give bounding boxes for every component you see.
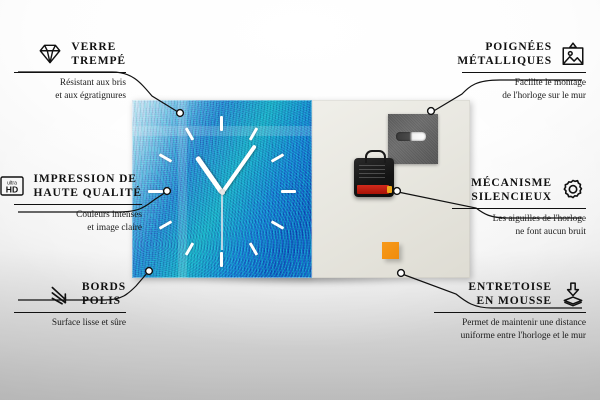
callout-desc-line2: uniforme entre l'horloge et le mur xyxy=(434,330,586,343)
callout-desc-line1: Facilite le montage xyxy=(462,77,586,90)
callout-rule xyxy=(14,204,142,205)
callout-header: ultra HD IMPRESSION DE HAUTE QUALITÉ xyxy=(14,172,142,200)
callout-rule xyxy=(462,72,586,73)
callout-desc-line2: ne font aucun bruit xyxy=(452,226,586,239)
callout-verre-trempe: VERRE TREMPÉ Résistant aux bris et aux é… xyxy=(14,40,126,102)
glass-gloss xyxy=(132,100,312,278)
callout-title-line1: POIGNÉES xyxy=(485,40,552,54)
callout-title-line1: VERRE xyxy=(71,40,116,54)
callout-title-line1: MÉCANISME xyxy=(471,176,552,190)
callout-desc-line1: Couleurs intenses xyxy=(14,209,142,222)
callout-title-line1: BORDS xyxy=(82,280,126,294)
callout-title-line2: HAUTE QUALITÉ xyxy=(33,186,142,200)
callout-bords-polis: BORDS POLIS Surface lisse et sûre xyxy=(14,280,126,330)
callout-entretoise-en-mousse: ENTRETOISE EN MOUSSE Permet de maintenir… xyxy=(434,280,586,342)
picture-frame-icon xyxy=(560,41,586,67)
callout-title-line1: ENTRETOISE xyxy=(468,280,552,294)
clock-back-panel xyxy=(312,100,470,278)
quartz-movement xyxy=(354,158,394,197)
callout-desc-line1: Surface lisse et sûre xyxy=(14,317,126,330)
callout-header: MÉCANISME SILENCIEUX xyxy=(452,176,586,204)
hanger-loop xyxy=(365,150,386,163)
callout-rule xyxy=(14,72,126,73)
callout-desc-line2: de l'horloge sur le mur xyxy=(462,90,586,103)
callout-header: ENTRETOISE EN MOUSSE xyxy=(434,280,586,308)
callout-header: VERRE TREMPÉ xyxy=(14,40,126,68)
infographic-canvas: VERRE TREMPÉ Résistant aux bris et aux é… xyxy=(0,0,600,400)
gear-icon xyxy=(560,177,586,203)
callout-rule xyxy=(14,312,126,313)
callout-title-line2: TREMPÉ xyxy=(71,54,126,68)
callout-title-line2: POLIS xyxy=(82,294,121,308)
ultra-hd-icon: ultra HD xyxy=(0,173,25,199)
callout-desc-line1: Les aiguilles de l'horloge xyxy=(452,213,586,226)
movement-print xyxy=(359,165,385,179)
battery xyxy=(357,185,389,194)
callout-title-line2: MÉTALLIQUES xyxy=(457,54,552,68)
callout-header: POIGNÉES MÉTALLIQUES xyxy=(462,40,586,68)
metal-hanger-plate xyxy=(388,114,438,164)
callout-desc-line2: et aux égratignures xyxy=(14,90,126,103)
hanger-slot xyxy=(396,132,426,141)
callout-rule xyxy=(452,208,586,209)
svg-text:HD: HD xyxy=(6,185,18,195)
callout-header: BORDS POLIS xyxy=(14,280,126,308)
callout-desc-line1: Permet de maintenir une distance xyxy=(434,317,586,330)
callout-poignees-metalliques: POIGNÉES MÉTALLIQUES Facilite le montage… xyxy=(462,40,586,102)
callout-rule xyxy=(434,312,586,313)
clock-front-panel xyxy=(132,100,312,278)
callout-impression-hd: ultra HD IMPRESSION DE HAUTE QUALITÉ Cou… xyxy=(14,172,142,234)
polished-edges-icon xyxy=(48,281,74,307)
callout-mecanisme-silencieux: MÉCANISME SILENCIEUX Les aiguilles de l'… xyxy=(452,176,586,238)
callout-title-line1: IMPRESSION DE xyxy=(33,172,136,186)
product-image xyxy=(132,100,470,278)
foam-spacer-icon xyxy=(560,281,586,307)
foam-spacer xyxy=(382,242,399,259)
callout-title-line2: SILENCIEUX xyxy=(471,190,552,204)
callout-desc-line2: et image claire xyxy=(14,222,142,235)
diamond-icon xyxy=(37,41,63,67)
callout-desc-line1: Résistant aux bris xyxy=(14,77,126,90)
callout-title-line2: EN MOUSSE xyxy=(476,294,552,308)
